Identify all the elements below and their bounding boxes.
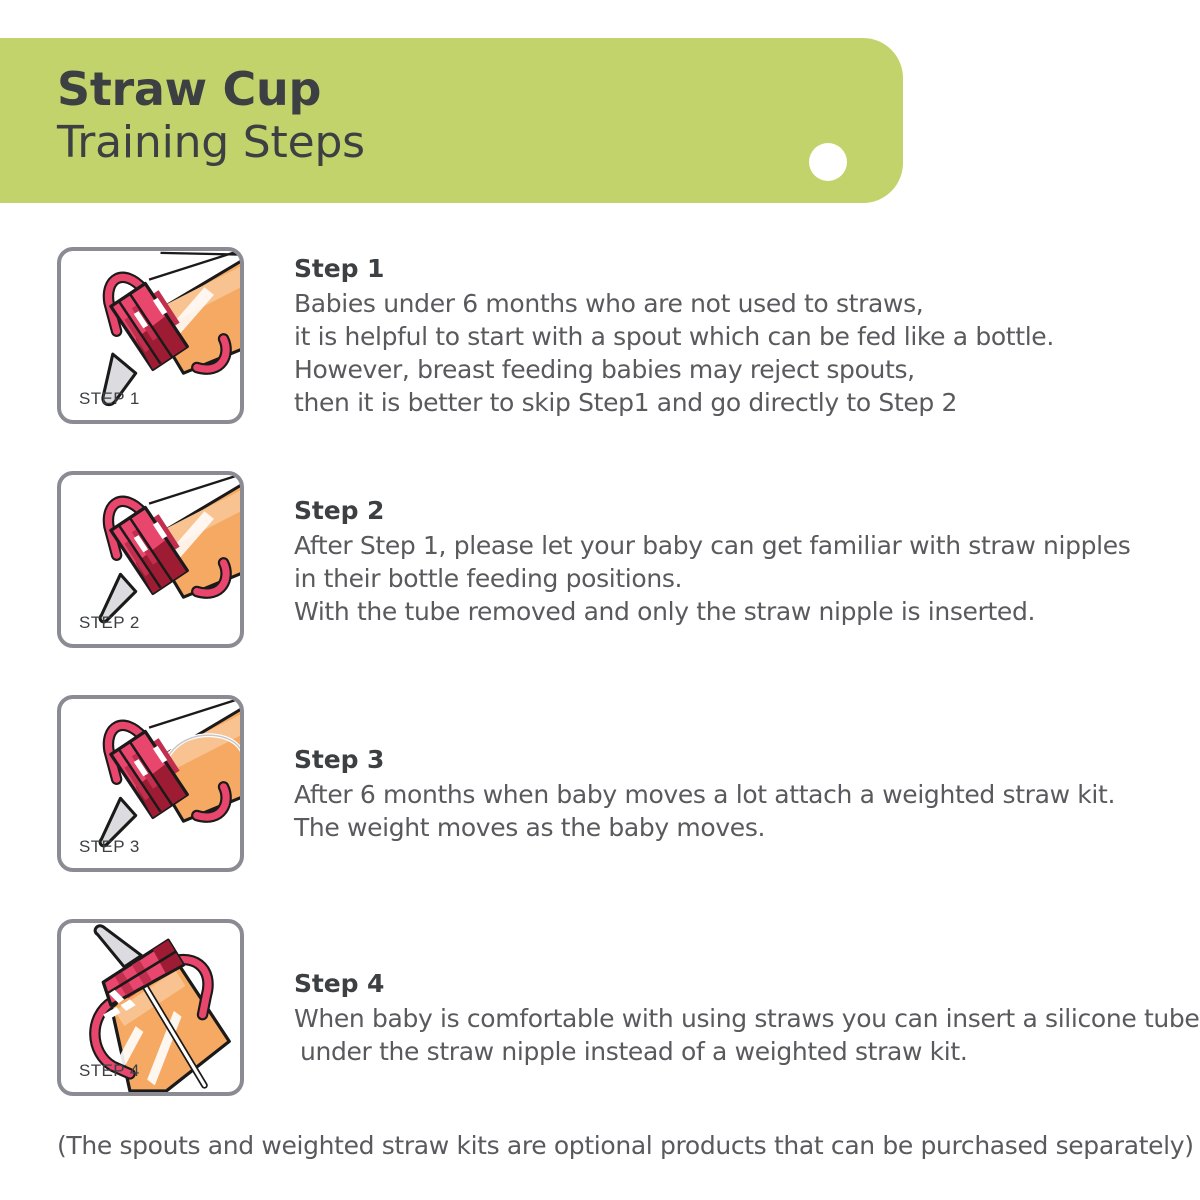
step-box-label: STEP 4 (79, 1061, 140, 1081)
step-box-label: STEP 2 (79, 613, 140, 633)
step-heading: Step 3 (294, 744, 1174, 776)
step-body-line: it is helpful to start with a spout whic… (294, 320, 1174, 353)
step-text-block: Step 1 Babies under 6 months who are not… (294, 253, 1174, 419)
step-text-block: Step 2 After Step 1, please let your bab… (294, 495, 1174, 628)
step-illustration-box: STEP 1 (57, 247, 244, 424)
step-box-label: STEP 1 (79, 389, 140, 409)
step-illustration-box: STEP 3 (57, 695, 244, 872)
step-box-label: STEP 3 (79, 837, 140, 857)
step-body-line: When baby is comfortable with using stra… (294, 1002, 1174, 1035)
step-body-line: then it is better to skip Step1 and go d… (294, 386, 1174, 419)
step-illustration-box: STEP 2 (57, 471, 244, 648)
step-text-block: Step 3 After 6 months when baby moves a … (294, 744, 1174, 844)
step-body-line: The weight moves as the baby moves. (294, 811, 1174, 844)
step-body-line: Babies under 6 months who are not used t… (294, 287, 1174, 320)
step-body-line: After Step 1, please let your baby can g… (294, 529, 1174, 562)
page-subtitle: Training Steps (57, 121, 365, 165)
punch-hole-icon (809, 143, 847, 181)
step-heading: Step 2 (294, 495, 1174, 527)
header-tag-banner: Straw Cup Training Steps (0, 38, 903, 203)
page-title: Straw Cup (57, 66, 321, 112)
step-text-block: Step 4 When baby is comfortable with usi… (294, 968, 1174, 1068)
footer-note: (The spouts and weighted straw kits are … (57, 1131, 1194, 1160)
step-body-line: After 6 months when baby moves a lot att… (294, 778, 1174, 811)
step-illustration-box: STEP 4 (57, 919, 244, 1096)
step-heading: Step 4 (294, 968, 1174, 1000)
step-body-line: With the tube removed and only the straw… (294, 595, 1174, 628)
step-body-line: in their bottle feeding positions. (294, 562, 1174, 595)
step-body-line: However, breast feeding babies may rejec… (294, 353, 1174, 386)
step-body-line: under the straw nipple instead of a weig… (300, 1035, 1174, 1068)
step-heading: Step 1 (294, 253, 1174, 285)
